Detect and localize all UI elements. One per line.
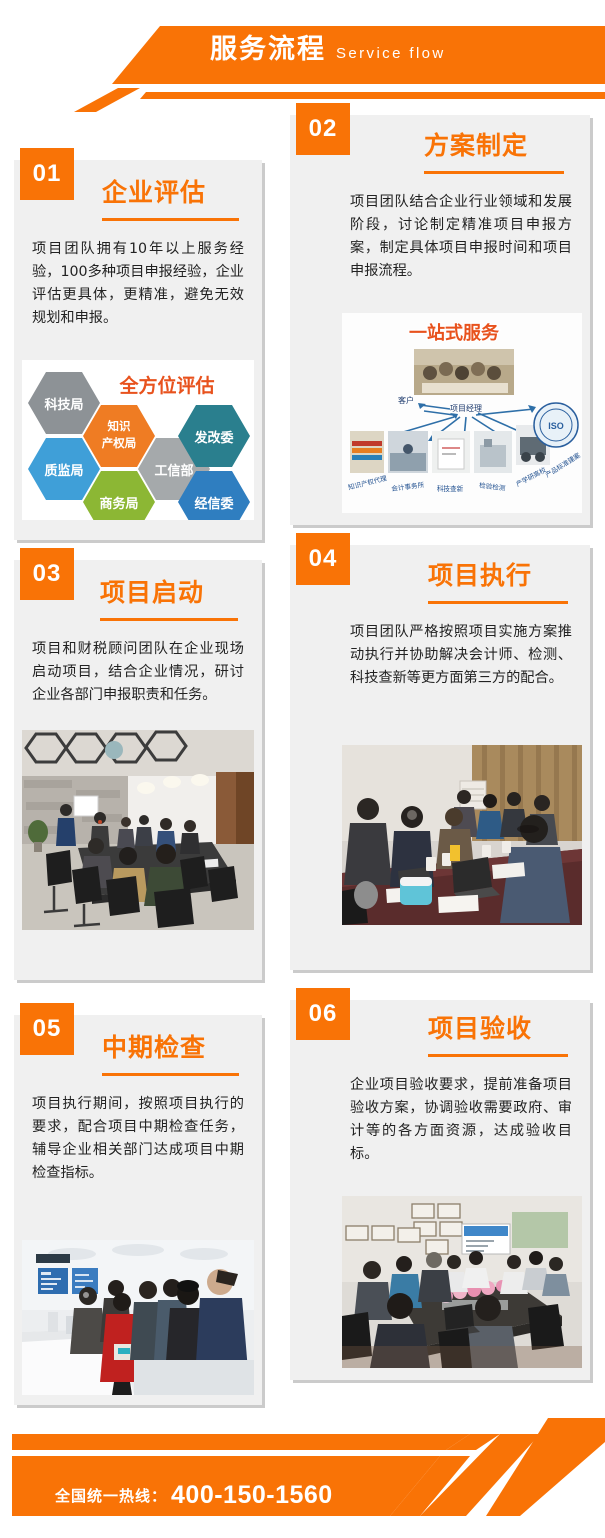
card-04-title: 项目执行: [428, 563, 532, 588]
svg-text:一站式服务: 一站式服务: [409, 322, 500, 344]
card-01-hex-diagram: 科技局 质监局 知识 产权局 商务局: [22, 360, 254, 520]
card-06-photo: [342, 1196, 582, 1368]
card-02-body: 项目团队结合企业行业领域和发展阶段，讨论制定精准项目申报方案，制定具体项目申报时…: [350, 191, 572, 283]
card-01-body: 项目团队拥有10年以上服务经验，100多种项目申报经验，企业评估更具体，更精准，…: [32, 238, 244, 330]
card-03-title: 项目启动: [100, 580, 204, 605]
card-04[interactable]: 项目执行 项目团队严格按照项目实施方案推动执行并协助解决会计师、检测、科技查新等…: [290, 545, 590, 970]
svg-text:质监局: 质监局: [44, 463, 83, 479]
card-06[interactable]: 项目验收 企业项目验收要求，提前准备项目验收方案，协调验收需要政府、审计等的各方…: [290, 1000, 590, 1380]
svg-text:产权局: 产权局: [102, 436, 137, 450]
svg-text:全方位评估: 全方位评估: [118, 374, 214, 397]
svg-text:发改委: 发改委: [193, 430, 233, 446]
card-05-body: 项目执行期间，按照项目执行的要求，配合项目中期检查任务，辅导企业相关部门达成项目…: [32, 1093, 244, 1185]
card-04-number-badge: 04: [296, 533, 350, 585]
svg-text:ISO: ISO: [548, 421, 564, 431]
card-02[interactable]: 方案制定 项目团队结合企业行业领域和发展阶段，讨论制定精准项目申报方案，制定具体…: [290, 115, 590, 525]
card-02-number-badge: 02: [296, 103, 350, 155]
footer-banner: 全国统一热线： 400-150-1560: [0, 1398, 605, 1538]
card-04-body: 项目团队严格按照项目实施方案推动执行并协助解决会计师、检测、科技查新等更方面第三…: [350, 621, 572, 690]
card-02-title: 方案制定: [424, 133, 528, 158]
card-06-title: 项目验收: [428, 1016, 532, 1041]
header-title-en: Service flow: [336, 46, 446, 61]
card-01-title-rule: [102, 218, 239, 221]
footer-hotline-number[interactable]: 400-150-1560: [171, 1481, 333, 1510]
card-05[interactable]: 中期检查 项目执行期间，按照项目执行的要求，配合项目中期检查任务，辅导企业相关部…: [14, 1015, 262, 1405]
card-03-photo: [22, 730, 254, 930]
card-02-onestop-diagram: 一站式服务: [342, 313, 582, 513]
header-title-group: 服务流程 Service flow: [210, 36, 446, 63]
svg-text:客户: 客户: [398, 395, 414, 405]
card-03[interactable]: 项目启动 项目和财税顾问团队在企业现场启动项目，结合企业情况，研讨企业各部门申报…: [14, 560, 262, 980]
footer-hotline-group: 全国统一热线： 400-150-1560: [55, 1481, 333, 1510]
card-06-title-rule: [428, 1054, 568, 1057]
card-06-number-badge: 06: [296, 988, 350, 1040]
svg-text:商务局: 商务局: [99, 496, 138, 512]
card-03-body: 项目和财税顾问团队在企业现场启动项目，结合企业情况，研讨企业各部门申报职责和任务…: [32, 638, 244, 707]
footer-hotline-label: 全国统一热线：: [55, 1485, 167, 1506]
card-01-title: 企业评估: [102, 180, 206, 205]
svg-text:经信委: 经信委: [194, 496, 233, 512]
card-03-title-rule: [100, 618, 238, 621]
card-05-number-badge: 05: [20, 1003, 74, 1055]
card-05-photo: [22, 1240, 254, 1395]
svg-text:科技查新: 科技查新: [437, 484, 464, 493]
card-01[interactable]: 企业评估 项目团队拥有10年以上服务经验，100多种项目申报经验，企业评估更具体…: [14, 160, 262, 540]
svg-text:项目经理: 项目经理: [450, 403, 482, 413]
header-title-cn: 服务流程: [210, 36, 326, 63]
card-05-title-rule: [102, 1073, 239, 1076]
header-banner: 服务流程 Service flow: [0, 0, 605, 112]
card-03-number-badge: 03: [20, 548, 74, 600]
svg-text:知识: 知识: [107, 419, 131, 433]
svg-text:工信部: 工信部: [154, 463, 193, 479]
card-04-photo: [342, 745, 582, 925]
card-01-number-badge: 01: [20, 148, 74, 200]
card-06-body: 企业项目验收要求，提前准备项目验收方案，协调验收需要政府、审计等的各方面资源，达…: [350, 1074, 572, 1166]
card-02-title-rule: [424, 171, 564, 174]
card-05-title: 中期检查: [102, 1035, 206, 1060]
svg-text:科技局: 科技局: [44, 397, 83, 413]
service-flow-infographic: 服务流程 Service flow 企业评估 项目团队拥有10年以上服务经验，1…: [0, 0, 605, 1538]
card-04-title-rule: [428, 601, 568, 604]
